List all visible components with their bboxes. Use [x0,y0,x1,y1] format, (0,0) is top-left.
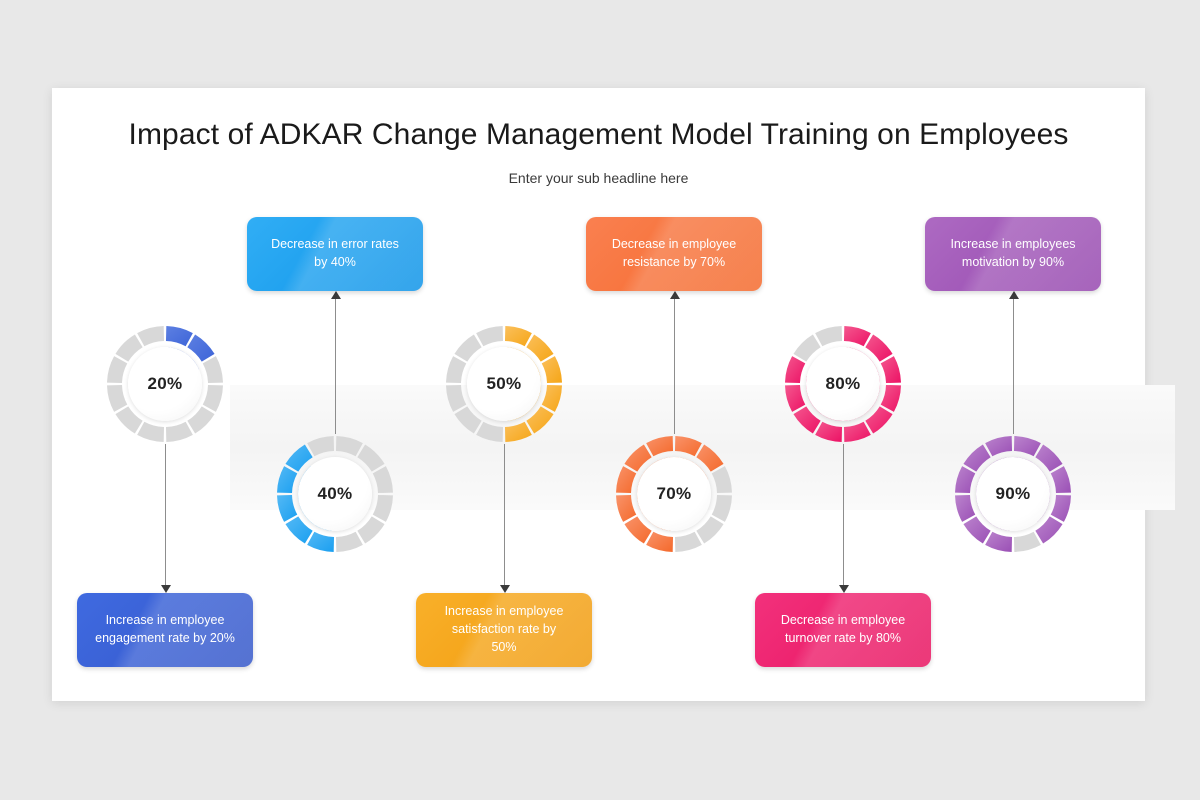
donut-value-resistance: 70% [657,484,692,504]
donut-chart-resistance[interactable]: 70% [608,428,740,560]
callout-error-rates[interactable]: Decrease in error ratesby 40% [247,217,423,291]
donut-segment [542,385,562,412]
donut-segment [137,422,164,442]
donut-segment [336,436,363,456]
donut-segment [505,326,532,346]
donut-segment [107,356,127,383]
donut-segment [865,406,892,433]
page-subtitle: Enter your sub headline here [52,170,1145,186]
callout-label-error-rates: Decrease in error ratesby 40% [261,236,409,272]
donut-segment [336,532,363,552]
donut-segment [675,532,702,552]
callout-label-turnover: Decrease in employeeturnover rate by 80% [771,612,915,648]
connector-line-satisfaction [504,444,505,585]
callout-satisfaction[interactable]: Increase in employeesatisfaction rate by… [416,593,592,667]
donut-segment [712,495,732,522]
donut-segment [1051,495,1071,522]
connector-arrow-motivation [1009,291,1019,299]
donut-chart-turnover[interactable]: 80% [777,318,909,450]
donut-hub: 50% [467,347,541,421]
callout-turnover[interactable]: Decrease in employeeturnover rate by 80% [755,593,931,667]
donut-segment [107,385,127,412]
connector-line-error-rates [335,299,336,434]
donut-segment [446,356,466,383]
donut-chart-satisfaction[interactable]: 50% [438,318,570,450]
callout-label-resistance: Decrease in employeeresistance by 70% [602,236,746,272]
connector-arrow-engagement [161,585,171,593]
donut-segment [985,436,1012,456]
donut-segment [505,422,532,442]
slide-canvas: Impact of ADKAR Change Management Model … [0,0,1200,800]
donut-value-error-rates: 40% [318,484,353,504]
donut-segment [373,466,393,493]
connector-arrow-error-rates [331,291,341,299]
donut-value-turnover: 80% [826,374,861,394]
donut-value-satisfaction: 50% [487,374,522,394]
donut-segment [357,516,384,543]
donut-hub: 70% [637,457,711,531]
donut-segment [985,532,1012,552]
donut-segment [955,495,975,522]
donut-segment [646,532,673,552]
donut-segment [277,466,297,493]
connector-line-motivation [1013,299,1014,434]
donut-segment [137,326,164,346]
donut-segment [542,356,562,383]
donut-hub: 90% [976,457,1050,531]
donut-value-motivation: 90% [996,484,1031,504]
donut-chart-motivation[interactable]: 90% [947,428,1079,560]
donut-segment [166,326,193,346]
callout-label-engagement: Increase in employeeengagement rate by 2… [85,612,245,648]
donut-segment [446,385,466,412]
donut-segment [277,495,297,522]
donut-segment [844,326,871,346]
donut-segment [616,466,636,493]
donut-segment [881,385,901,412]
donut-segment [476,422,503,442]
connector-arrow-turnover [839,585,849,593]
callout-label-satisfaction: Increase in employeesatisfaction rate by… [435,603,574,656]
donut-segment [712,466,732,493]
donut-segment [955,466,975,493]
connector-line-resistance [674,299,675,434]
callout-resistance[interactable]: Decrease in employeeresistance by 70% [586,217,762,291]
donut-segment [696,516,723,543]
donut-hub: 20% [128,347,202,421]
donut-segment [203,385,223,412]
page-title: Impact of ADKAR Change Management Model … [52,118,1145,152]
donut-segment [1035,516,1062,543]
donut-segment [476,326,503,346]
donut-segment [307,532,334,552]
donut-value-engagement: 20% [148,374,183,394]
donut-segment [166,422,193,442]
donut-segment [675,436,702,456]
callout-engagement[interactable]: Increase in employeeengagement rate by 2… [77,593,253,667]
donut-segment [526,406,553,433]
donut-segment [785,385,805,412]
donut-segment [785,356,805,383]
donut-segment [616,495,636,522]
connector-line-turnover [843,444,844,585]
connector-arrow-resistance [670,291,680,299]
donut-segment [1014,436,1041,456]
slide-card: Impact of ADKAR Change Management Model … [52,88,1145,701]
donut-segment [1051,466,1071,493]
donut-segment [307,436,334,456]
donut-segment [187,406,214,433]
donut-segment [815,422,842,442]
donut-segment [815,326,842,346]
donut-segment [203,356,223,383]
donut-segment [881,356,901,383]
connector-line-engagement [165,444,166,585]
donut-segment [646,436,673,456]
connector-arrow-satisfaction [500,585,510,593]
callout-motivation[interactable]: Increase in employeesmotivation by 90% [925,217,1101,291]
donut-segment [373,495,393,522]
donut-chart-error-rates[interactable]: 40% [269,428,401,560]
callout-label-motivation: Increase in employeesmotivation by 90% [940,236,1085,272]
donut-hub: 80% [806,347,880,421]
donut-segment [844,422,871,442]
donut-hub: 40% [298,457,372,531]
donut-segment [1014,532,1041,552]
donut-chart-engagement[interactable]: 20% [99,318,231,450]
